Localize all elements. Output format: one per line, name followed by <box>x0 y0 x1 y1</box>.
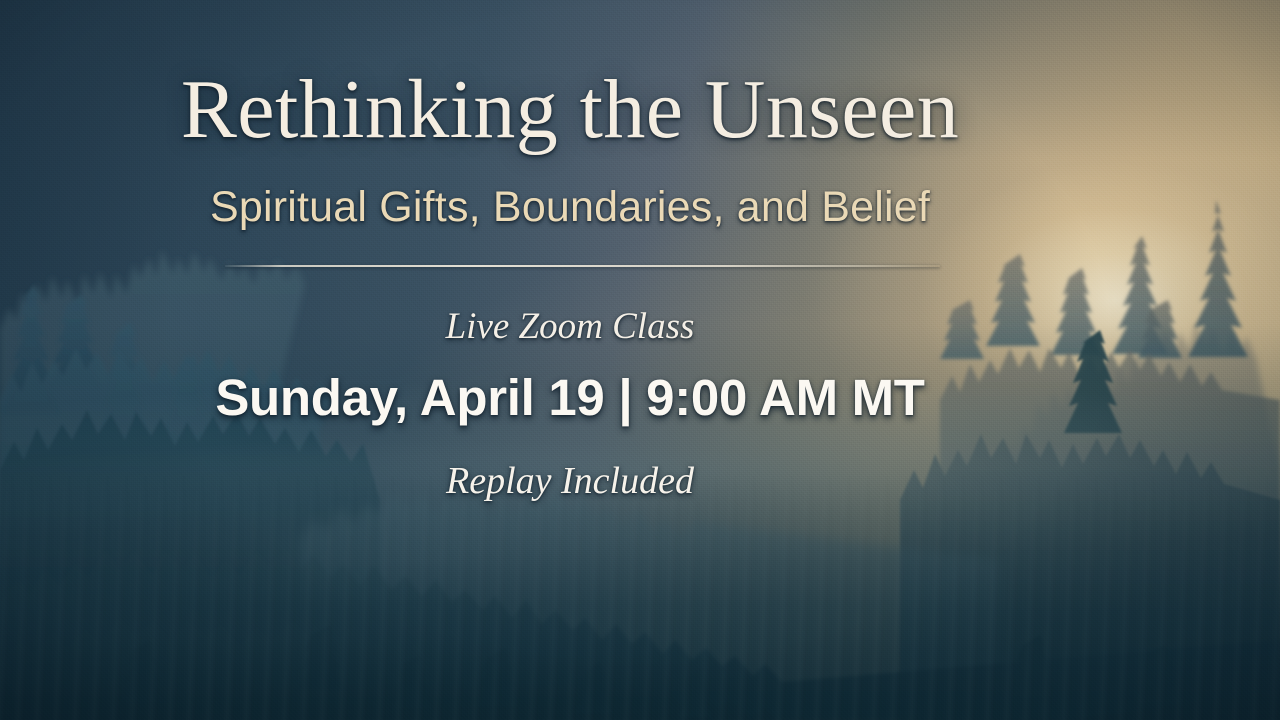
promo-slide: Rethinking the Unseen Spiritual Gifts, B… <box>0 0 1280 720</box>
event-datetime: Sunday, April 19 | 9:00 AM MT <box>0 372 1140 423</box>
page-title: Rethinking the Unseen <box>0 68 1140 152</box>
page-subtitle: Spiritual Gifts, Boundaries, and Belief <box>0 186 1140 229</box>
event-format-label: Live Zoom Class <box>0 308 1140 345</box>
divider-rule <box>225 265 940 267</box>
replay-note: Replay Included <box>0 462 1140 500</box>
text-content-block: Rethinking the Unseen Spiritual Gifts, B… <box>0 0 1280 720</box>
